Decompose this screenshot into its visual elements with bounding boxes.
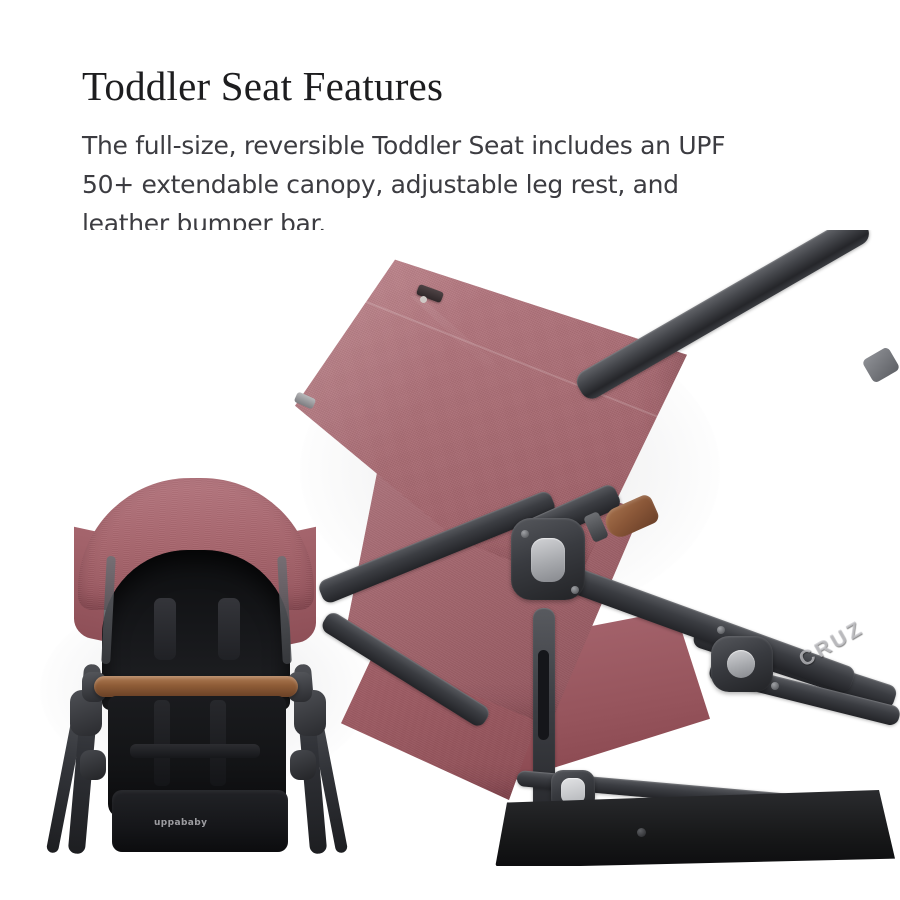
harness-strap-left bbox=[154, 700, 170, 786]
product-feature-panel: Toddler Seat Features The full-size, rev… bbox=[0, 0, 900, 900]
shoulder-pad-right bbox=[218, 598, 240, 660]
frame-rivet bbox=[571, 586, 579, 594]
brand-logo: uppababy bbox=[154, 818, 207, 828]
handlebar bbox=[573, 230, 874, 403]
hub-release-button-main[interactable] bbox=[531, 538, 565, 582]
frame-rivet bbox=[717, 626, 725, 634]
shoulder-pad-left bbox=[154, 598, 176, 660]
stroller-side-view: CRUZ bbox=[265, 230, 900, 866]
frame-rivet bbox=[521, 530, 529, 538]
leather-bumper-bar bbox=[94, 676, 298, 697]
feature-description: The full-size, reversible Toddler Seat i… bbox=[82, 126, 762, 243]
product-photo: CRUZ bbox=[0, 230, 900, 866]
feature-text-block: Toddler Seat Features The full-size, rev… bbox=[82, 62, 782, 243]
frame-post-slot bbox=[538, 650, 549, 740]
frame-rivet bbox=[771, 682, 779, 690]
frame-hinge-left bbox=[80, 750, 106, 780]
stroller-rear-view: uppababy bbox=[58, 478, 348, 866]
basket-stud bbox=[637, 828, 646, 837]
frame-hinge-right bbox=[290, 750, 316, 780]
harness-strap-right bbox=[210, 700, 226, 786]
handlebar-end-cap bbox=[862, 346, 900, 384]
page-title: Toddler Seat Features bbox=[82, 62, 782, 110]
harness-crotch-strap bbox=[130, 744, 260, 758]
storage-basket bbox=[495, 790, 895, 866]
hub-release-button-secondary[interactable] bbox=[727, 650, 755, 678]
